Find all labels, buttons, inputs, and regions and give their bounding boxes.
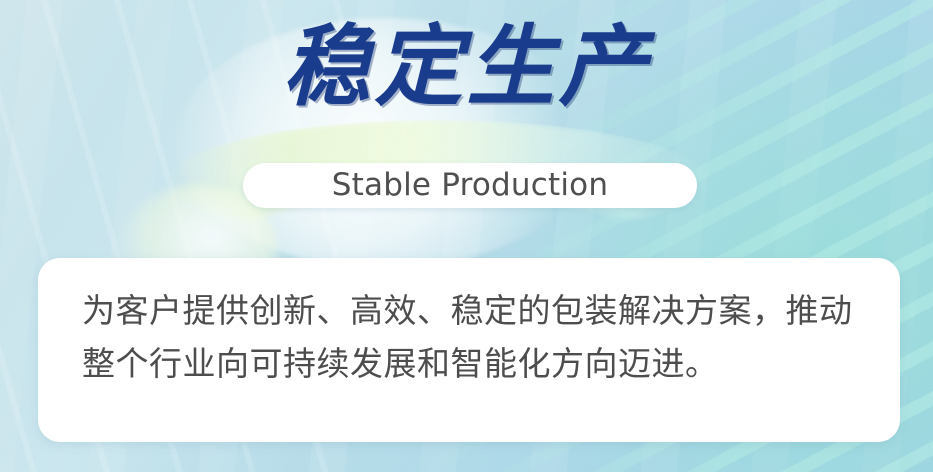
subtitle-pill: Stable Production — [243, 163, 697, 208]
page-title: 稳定生产 — [0, 18, 933, 117]
description-card: 为客户提供创新、高效、稳定的包装解决方案，推动整个行业向可持续发展和智能化方向迈… — [38, 258, 900, 442]
banner-stage: 稳定生产 Stable Production 为客户提供创新、高效、稳定的包装解… — [0, 0, 933, 472]
subtitle-text: Stable Production — [332, 170, 608, 201]
description-text: 为客户提供创新、高效、稳定的包装解决方案，推动整个行业向可持续发展和智能化方向迈… — [82, 284, 860, 391]
